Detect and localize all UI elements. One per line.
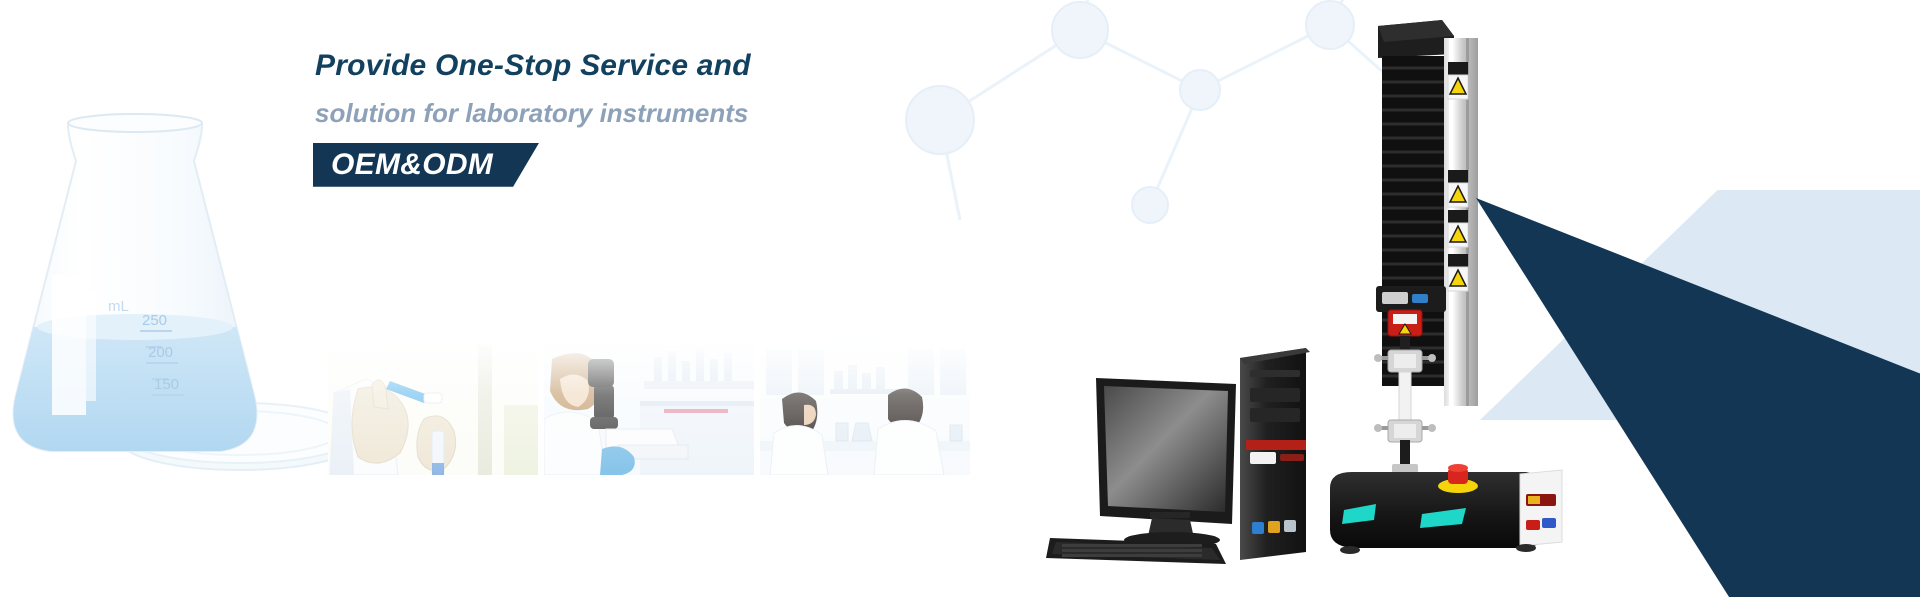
machine-specimen — [1399, 372, 1411, 422]
svg-text:200: 200 — [148, 344, 173, 361]
headline-line-1: Provide One-Stop Service and — [315, 50, 1013, 82]
machine-control-panel[interactable] — [1520, 470, 1562, 546]
svg-text:250: 250 — [142, 312, 167, 329]
photo-panel-lab-technicians — [760, 345, 970, 475]
lab-technicians-image — [760, 345, 970, 475]
machine-load-cell — [1388, 310, 1422, 336]
oem-odm-badge: OEM&ODM — [313, 143, 539, 187]
headline-block: Provide One-Stop Service and solution fo… — [313, 50, 1013, 187]
headline-line-2: solution for laboratory instruments — [315, 100, 1013, 127]
desktop-computer-icon — [1040, 340, 1320, 570]
photo-panel-microscope — [544, 345, 754, 475]
svg-text:150: 150 — [154, 376, 179, 393]
photo-panel-pipetting — [328, 345, 538, 475]
desktop-computer-illustration — [1040, 340, 1320, 570]
computer-monitor — [1096, 378, 1236, 548]
researcher-microscope-image — [544, 345, 754, 475]
machine-foot-right — [1516, 544, 1536, 552]
machine-lower-grip — [1374, 420, 1436, 476]
svg-text:mL: mL — [108, 298, 129, 315]
machine-warning-labels — [1448, 62, 1468, 291]
machine-crosshead — [1376, 286, 1446, 312]
machine-foot-left — [1340, 546, 1360, 554]
laboratory-photo-strip — [328, 345, 970, 475]
tower-badges — [1252, 520, 1296, 534]
scientist-pipetting-image — [328, 345, 538, 475]
hero-banner: mL 250 200 150 Provide One-Stop Service … — [0, 0, 1920, 597]
computer-tower — [1240, 348, 1310, 560]
